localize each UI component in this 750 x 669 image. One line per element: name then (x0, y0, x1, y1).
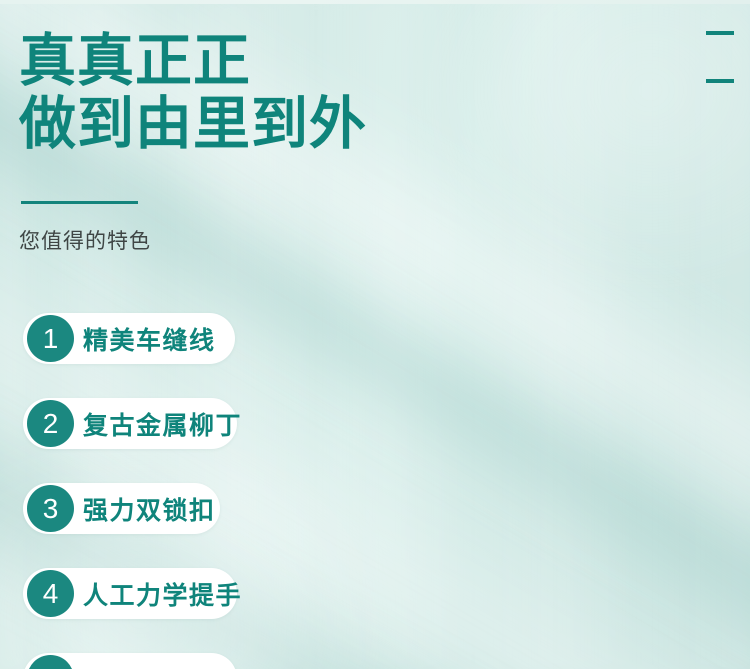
feature-label: 复古金属柳丁 (83, 398, 242, 449)
feature-number-badge: 2 (27, 400, 74, 447)
poster-content: 真真正正 做到由里到外 您值得的特色 1精美车缝线2复古金属柳丁3强力双锁扣4人… (0, 0, 750, 669)
feature-number-badge: 1 (27, 315, 74, 362)
page-title: 真真正正 做到由里到外 (19, 30, 367, 156)
promo-poster: 真真正正 做到由里到外 您值得的特色 1精美车缝线2复古金属柳丁3强力双锁扣4人… (0, 0, 750, 669)
dash-mark-1-icon (706, 31, 734, 35)
feature-label: 人工力学提手 (83, 568, 242, 619)
feature-number-badge: 3 (27, 485, 74, 532)
list-item[interactable]: 5 (0, 653, 750, 669)
feature-label: 强力双锁扣 (83, 483, 216, 534)
list-item[interactable]: 1精美车缝线 (0, 313, 750, 364)
list-item[interactable]: 3强力双锁扣 (0, 483, 750, 534)
corner-dash-marks (694, 0, 734, 110)
title-divider (21, 201, 138, 204)
feature-number-badge: 4 (27, 570, 74, 617)
dash-mark-2-icon (706, 79, 734, 83)
list-item[interactable]: 4人工力学提手 (0, 568, 750, 619)
subtitle: 您值得的特色 (19, 228, 151, 256)
heading-line-1: 真真正正 (19, 30, 367, 93)
list-item[interactable]: 2复古金属柳丁 (0, 398, 750, 449)
feature-list: 1精美车缝线2复古金属柳丁3强力双锁扣4人工力学提手5 (0, 313, 750, 669)
feature-label: 精美车缝线 (83, 313, 216, 364)
heading-line-2: 做到由里到外 (19, 93, 367, 156)
